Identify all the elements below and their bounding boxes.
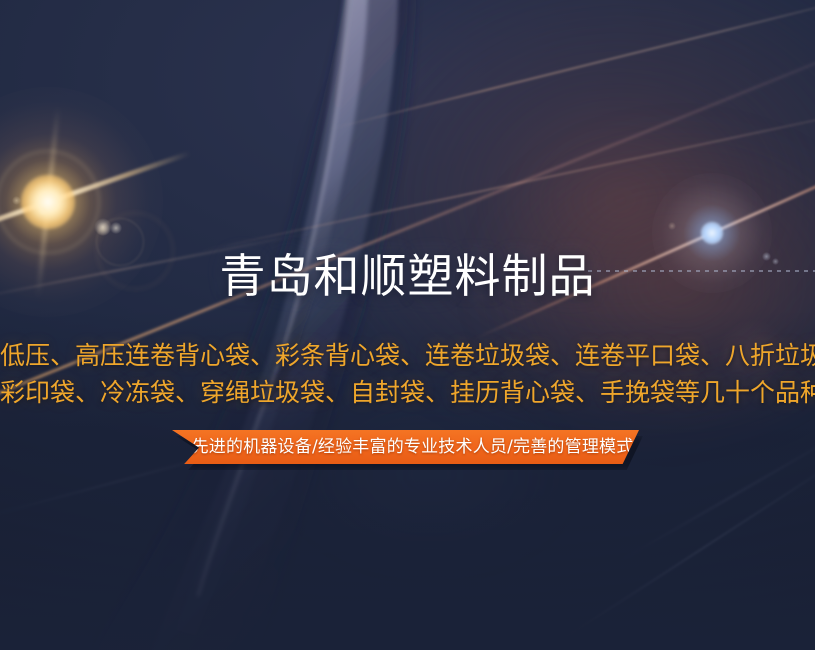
- promo-banner: 青岛和顺塑料制品 低压、高压连卷背心袋、彩条背心袋、连卷垃圾袋、连卷平口袋、八折…: [0, 0, 815, 650]
- banner-content: 青岛和顺塑料制品 低压、高压连卷背心袋、彩条背心袋、连卷垃圾袋、连卷平口袋、八折…: [0, 0, 815, 650]
- feature-ribbon: 先进的机器设备/经验丰富的专业技术人员/完善的管理模式: [172, 430, 639, 464]
- ribbon-shape: 先进的机器设备/经验丰富的专业技术人员/完善的管理模式: [172, 430, 639, 464]
- product-list-line-2: 彩印袋、冷冻袋、穿绳垃圾袋、自封袋、挂历背心袋、手挽袋等几十个品种: [0, 377, 815, 409]
- page-title: 青岛和顺塑料制品: [0, 248, 815, 304]
- ribbon-label: 先进的机器设备/经验丰富的专业技术人员/完善的管理模式: [178, 437, 634, 457]
- product-list-line-1: 低压、高压连卷背心袋、彩条背心袋、连卷垃圾袋、连卷平口袋、八折垃圾袋、: [0, 340, 815, 372]
